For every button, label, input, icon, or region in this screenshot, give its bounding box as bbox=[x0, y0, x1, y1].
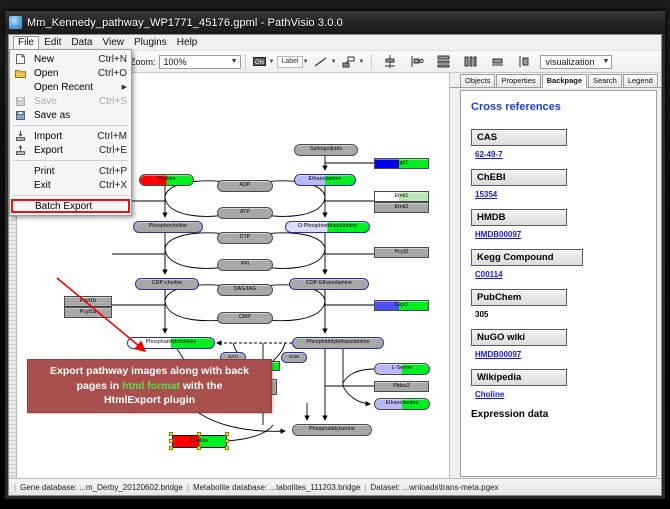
line-icon[interactable] bbox=[313, 54, 330, 70]
selection-handle[interactable] bbox=[225, 432, 229, 436]
chevron-down-icon: ▼ bbox=[603, 58, 610, 65]
menu-item-label: Print bbox=[34, 166, 99, 177]
xref-header-kegg: Kegg Compound bbox=[471, 249, 583, 266]
selection-handle[interactable] bbox=[225, 446, 229, 450]
menu-item-batch-export[interactable]: Batch Export bbox=[11, 199, 130, 213]
same-width-icon[interactable] bbox=[489, 54, 506, 70]
selection-handle[interactable] bbox=[225, 439, 229, 443]
xref-header-wikipedia: Wikipedia bbox=[471, 369, 567, 386]
menu-view[interactable]: View bbox=[97, 36, 129, 50]
status-bar: | Gene database: ...m_Derby_20120602.bri… bbox=[9, 478, 661, 495]
menu-item-shortcut: Ctrl+O bbox=[98, 68, 127, 79]
menu-help[interactable]: Help bbox=[172, 36, 203, 50]
selection-handle[interactable] bbox=[169, 439, 173, 443]
callout-line-3: HtmlExport plugin bbox=[34, 393, 265, 408]
callout-line-2-post: with the bbox=[180, 380, 223, 392]
folder-open-icon bbox=[14, 69, 27, 78]
tab-objects[interactable]: Objects bbox=[460, 74, 495, 87]
menu-item-shortcut: Ctrl+E bbox=[99, 145, 127, 156]
menu-item-label: Open bbox=[34, 68, 98, 79]
menu-item-label: Save as bbox=[34, 110, 127, 121]
menu-item-exit[interactable]: Exit Ctrl+X bbox=[10, 178, 131, 192]
side-panel: Objects Properties Backpage Search Legen… bbox=[450, 73, 661, 479]
selection-handle[interactable] bbox=[197, 432, 201, 436]
menu-item-label: Batch Export bbox=[35, 201, 124, 212]
menu-item-label: Export bbox=[34, 145, 99, 156]
save-disk-icon bbox=[14, 97, 27, 106]
same-height-icon[interactable] bbox=[516, 54, 533, 70]
xref-header-cas: CAS bbox=[471, 129, 567, 146]
xref-value-kegg[interactable]: C00114 bbox=[475, 270, 646, 279]
xref-value-pubchem: 305 bbox=[475, 310, 646, 319]
xref-value-wikipedia[interactable]: Choline bbox=[475, 390, 646, 399]
chevron-down-icon[interactable]: ▼ bbox=[303, 59, 309, 65]
annotation-callout: Export pathway images along with back pa… bbox=[27, 359, 272, 413]
zoom-value: 100% bbox=[164, 57, 187, 67]
menu-item-save: Save Ctrl+S bbox=[10, 94, 131, 108]
backpage-content: Cross references CAS 62-49-7 ChEBI 15354… bbox=[460, 90, 657, 477]
chevron-down-icon[interactable]: ▼ bbox=[359, 59, 365, 65]
distribute-vertical-icon[interactable] bbox=[435, 54, 452, 70]
chevron-down-icon[interactable]: ▼ bbox=[269, 59, 275, 65]
callout-line-2-pre: pages in bbox=[77, 380, 123, 392]
menu-item-shortcut: Ctrl+P bbox=[99, 166, 127, 177]
label-button[interactable]: Label bbox=[277, 56, 302, 68]
backpage-title: Cross references bbox=[471, 101, 646, 113]
visualization-value: visualization bbox=[545, 57, 594, 67]
menu-item-label: Open Recent bbox=[34, 82, 122, 93]
tab-properties[interactable]: Properties bbox=[496, 74, 540, 87]
menu-plugins[interactable]: Plugins bbox=[129, 36, 172, 50]
menu-file[interactable]: File bbox=[13, 36, 39, 50]
datanode-icon[interactable]: GN bbox=[251, 54, 268, 70]
menu-item-shortcut: Ctrl+S bbox=[99, 96, 127, 107]
xref-header-chebi: ChEBI bbox=[471, 169, 567, 186]
xref-value-hmdb[interactable]: HMDB00097 bbox=[475, 230, 646, 239]
chevron-down-icon: ▼ bbox=[231, 58, 238, 65]
menu-item-export[interactable]: Export Ctrl+E bbox=[10, 143, 131, 157]
import-icon bbox=[14, 131, 27, 141]
menu-item-import[interactable]: Import Ctrl+M bbox=[10, 129, 131, 143]
status-metabolite-database: Metabolite database: ...tabolites_111203… bbox=[193, 483, 360, 492]
menu-item-open-recent[interactable]: Open Recent ▶ bbox=[10, 80, 131, 94]
xref-header-hmdb: HMDB bbox=[471, 209, 567, 226]
callout-line-1: Export pathway images along with back bbox=[34, 364, 265, 379]
xref-header-pubchem: PubChem bbox=[471, 289, 567, 306]
xref-value-cas[interactable]: 62-49-7 bbox=[475, 150, 646, 159]
zoom-label: Zoom: bbox=[130, 57, 156, 67]
menu-item-shortcut: Ctrl+X bbox=[99, 180, 127, 191]
save-as-icon bbox=[14, 111, 27, 120]
callout-line-2: pages in html format with the bbox=[34, 379, 265, 394]
menu-item-new[interactable]: New Ctrl+N bbox=[10, 52, 131, 66]
align-left-icon[interactable] bbox=[408, 54, 425, 70]
file-menu-popup[interactable]: New Ctrl+N Open Ctrl+O Open Recent ▶ Sav… bbox=[9, 49, 132, 216]
align-top-icon[interactable] bbox=[381, 54, 398, 70]
menu-item-label: Import bbox=[34, 131, 97, 142]
selection-handle[interactable] bbox=[197, 446, 201, 450]
side-panel-tabs: Objects Properties Backpage Search Legen… bbox=[450, 73, 661, 88]
menu-item-save-as[interactable]: Save as bbox=[10, 108, 131, 122]
selection-handle[interactable] bbox=[169, 432, 173, 436]
xref-value-chebi[interactable]: 15354 bbox=[475, 190, 646, 199]
tab-search[interactable]: Search bbox=[588, 74, 622, 87]
menu-item-label: Exit bbox=[34, 180, 99, 191]
menu-data[interactable]: Data bbox=[66, 36, 97, 50]
expression-data-heading: Expression data bbox=[471, 409, 646, 420]
visualization-combo[interactable]: visualization ▼ bbox=[540, 55, 612, 69]
tab-legend[interactable]: Legend bbox=[623, 74, 658, 87]
title-bar: Mm_Kennedy_pathway_WP1771_45176.gpml - P… bbox=[5, 11, 665, 34]
xref-header-nugo: NuGO wiki bbox=[471, 329, 567, 346]
menu-item-print[interactable]: Print Ctrl+P bbox=[10, 164, 131, 178]
menu-separator bbox=[13, 125, 128, 126]
status-separator: | bbox=[187, 483, 189, 492]
xref-value-nugo[interactable]: HMDB00097 bbox=[475, 350, 646, 359]
toolbar-separator bbox=[245, 54, 246, 70]
menu-item-shortcut: Ctrl+M bbox=[97, 131, 127, 142]
distribute-horizontal-icon[interactable] bbox=[462, 54, 479, 70]
pathvisio-icon bbox=[9, 16, 22, 29]
callout-highlight: html format bbox=[122, 380, 180, 392]
new-document-icon bbox=[14, 54, 27, 64]
status-gene-database: Gene database: ...m_Derby_20120602.bridg… bbox=[20, 483, 183, 492]
menu-item-shortcut: Ctrl+N bbox=[98, 54, 127, 65]
tab-backpage[interactable]: Backpage bbox=[542, 74, 587, 88]
menu-item-open[interactable]: Open Ctrl+O bbox=[10, 66, 131, 80]
status-separator: | bbox=[14, 483, 16, 492]
status-separator: | bbox=[364, 483, 366, 492]
menu-item-label: New bbox=[34, 54, 98, 65]
menu-separator bbox=[13, 195, 128, 196]
svg-text:GN: GN bbox=[255, 60, 264, 66]
status-dataset: Dataset: ...wnloads\trans-meta.pgex bbox=[370, 483, 498, 492]
window-title: Mm_Kennedy_pathway_WP1771_45176.gpml - P… bbox=[27, 17, 343, 29]
menu-item-label: Save bbox=[34, 96, 99, 107]
chevron-right-icon: ▶ bbox=[122, 83, 127, 91]
toolbar-separator bbox=[371, 54, 372, 70]
export-icon bbox=[14, 145, 27, 155]
menu-separator bbox=[13, 160, 128, 161]
selection-handle[interactable] bbox=[169, 446, 173, 450]
desktop-background: Mm_Kennedy_pathway_WP1771_45176.gpml - P… bbox=[0, 0, 670, 509]
shape-icon[interactable] bbox=[341, 54, 358, 70]
menu-edit[interactable]: Edit bbox=[39, 36, 66, 50]
chevron-down-icon[interactable]: ▼ bbox=[331, 59, 337, 65]
zoom-combo[interactable]: 100% ▼ bbox=[159, 55, 241, 69]
